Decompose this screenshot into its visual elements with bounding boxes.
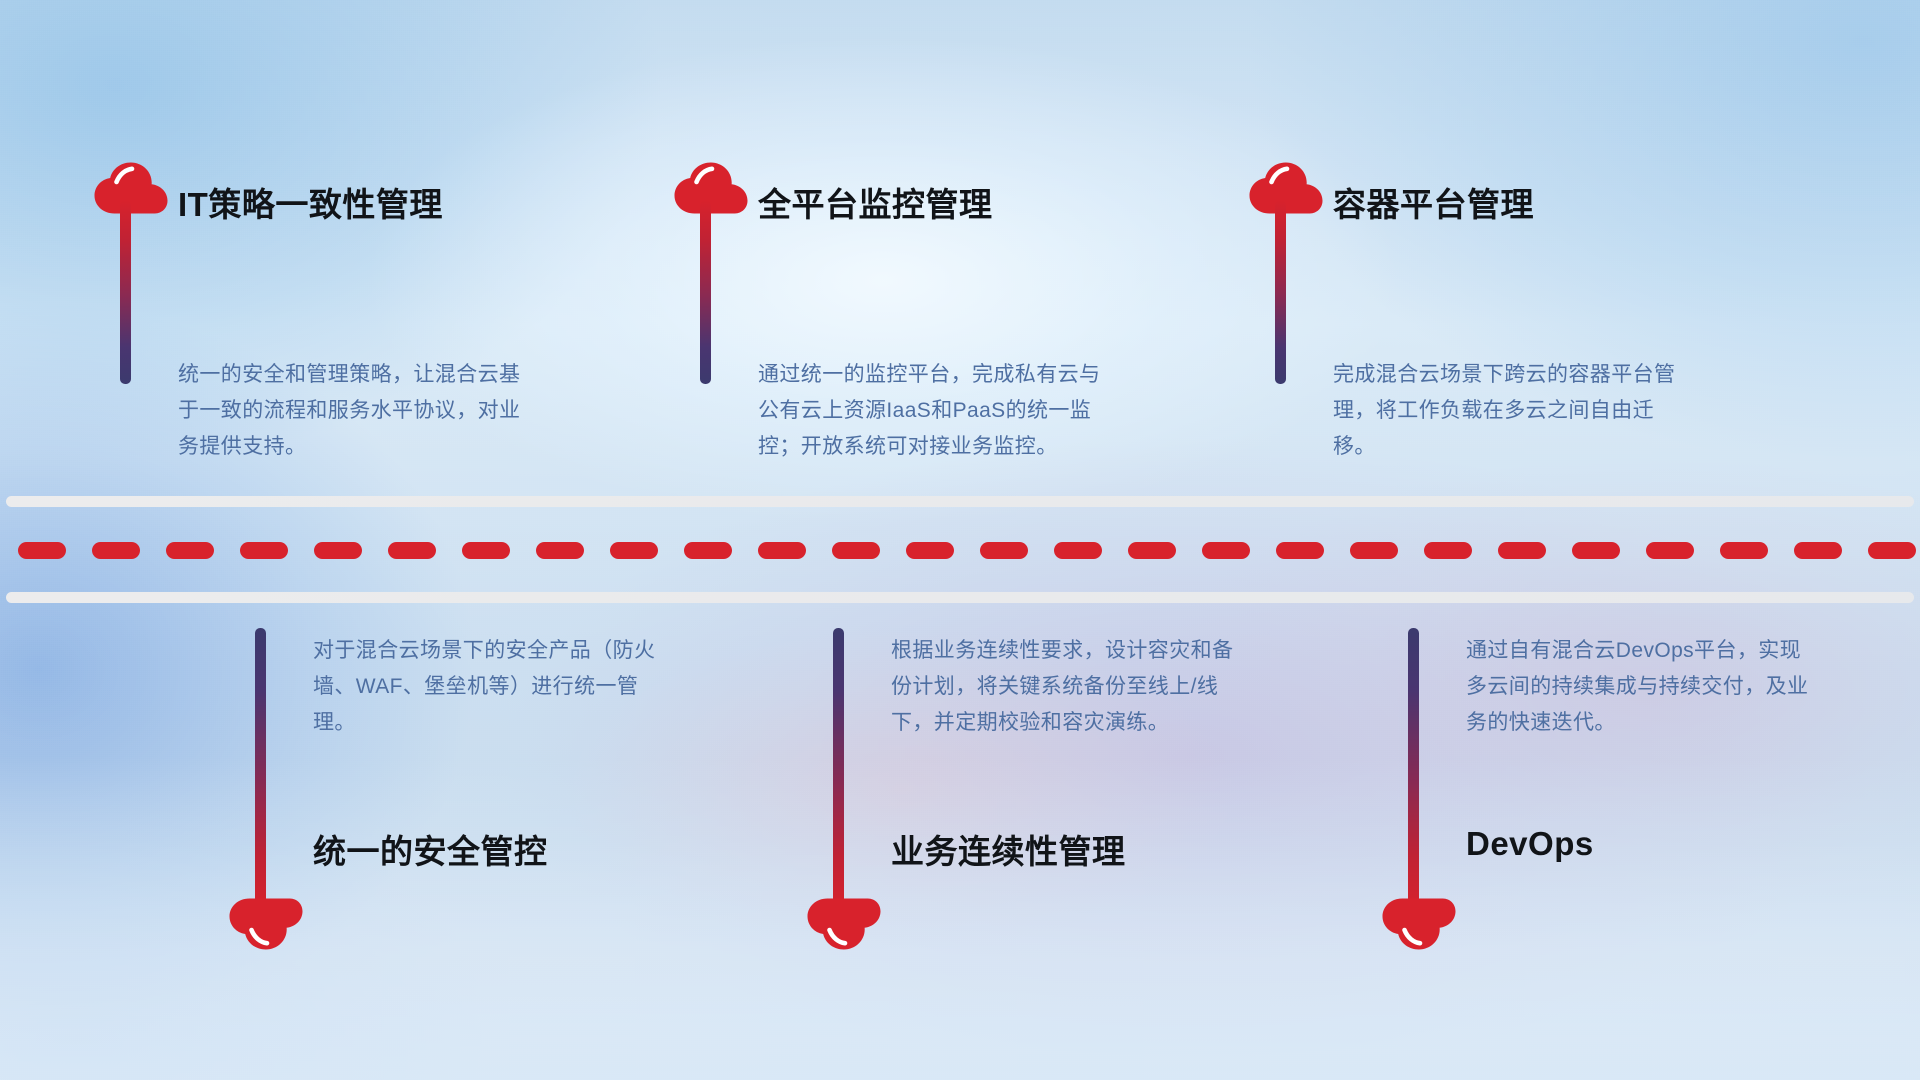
- card-body: 通过自有混合云DevOps平台，实现多云间的持续集成与持续交付，及业务的快速迭代…: [1466, 633, 1818, 741]
- card-title: 全平台监控管理: [758, 178, 993, 226]
- divider-dash: [1202, 542, 1250, 559]
- cloud-icon: [229, 898, 303, 950]
- divider-dash: [1868, 542, 1916, 559]
- divider-dash: [240, 542, 288, 559]
- connector-stem: [1275, 200, 1286, 384]
- divider-dash: [1572, 542, 1620, 559]
- divider-dash: [166, 542, 214, 559]
- divider-dash: [314, 542, 362, 559]
- connector-stem: [700, 200, 711, 384]
- card-body: 对于混合云场景下的安全产品（防火墙、WAF、堡垒机等）进行统一管理。: [313, 633, 665, 741]
- divider-dash: [1646, 542, 1694, 559]
- divider-dash: [684, 542, 732, 559]
- divider-dash: [1720, 542, 1768, 559]
- card-title: 统一的安全管控: [313, 825, 548, 873]
- divider-dash: [1054, 542, 1102, 559]
- connector-stem: [833, 628, 844, 913]
- card-body: 根据业务连续性要求，设计容灾和备份计划，将关键系统备份至线上/线下，并定期校验和…: [891, 633, 1243, 741]
- cloud-icon: [1249, 162, 1323, 214]
- divider-dash: [1424, 542, 1472, 559]
- connector-stem: [120, 200, 131, 384]
- divider-dash: [1128, 542, 1176, 559]
- card-title: IT策略一致性管理: [178, 178, 443, 226]
- divider-dash: [92, 542, 140, 559]
- divider-dash: [18, 542, 66, 559]
- divider-dash: [610, 542, 658, 559]
- cloud-icon: [674, 162, 748, 214]
- divider-dashed-red: [0, 542, 1920, 559]
- divider-dash: [980, 542, 1028, 559]
- connector-stem: [255, 628, 266, 913]
- connector-stem: [1408, 628, 1419, 913]
- infographic-canvas: IT策略一致性管理 统一的安全和管理策略，让混合云基于一致的流程和服务水平协议，…: [0, 0, 1920, 1080]
- card-title: 容器平台管理: [1333, 178, 1534, 226]
- divider-rule-bottom: [6, 592, 1914, 603]
- divider-dash: [1498, 542, 1546, 559]
- divider-dash: [758, 542, 806, 559]
- card-title: DevOps: [1466, 825, 1594, 863]
- divider-dash: [906, 542, 954, 559]
- cloud-icon: [1382, 898, 1456, 950]
- cloud-icon: [807, 898, 881, 950]
- divider-dash: [832, 542, 880, 559]
- card-title: 业务连续性管理: [891, 825, 1126, 873]
- card-body: 统一的安全和管理策略，让混合云基于一致的流程和服务水平协议，对业务提供支持。: [178, 357, 530, 465]
- divider-dash: [1794, 542, 1842, 559]
- divider-dash: [1350, 542, 1398, 559]
- card-body: 通过统一的监控平台，完成私有云与公有云上资源IaaS和PaaS的统一监控；开放系…: [758, 357, 1110, 465]
- divider-dash: [388, 542, 436, 559]
- divider-dash: [462, 542, 510, 559]
- card-body: 完成混合云场景下跨云的容器平台管理，将工作负载在多云之间自由迁移。: [1333, 357, 1685, 465]
- divider-rule-top: [6, 496, 1914, 507]
- cloud-icon: [94, 162, 168, 214]
- divider-dash: [1276, 542, 1324, 559]
- divider-dash: [536, 542, 584, 559]
